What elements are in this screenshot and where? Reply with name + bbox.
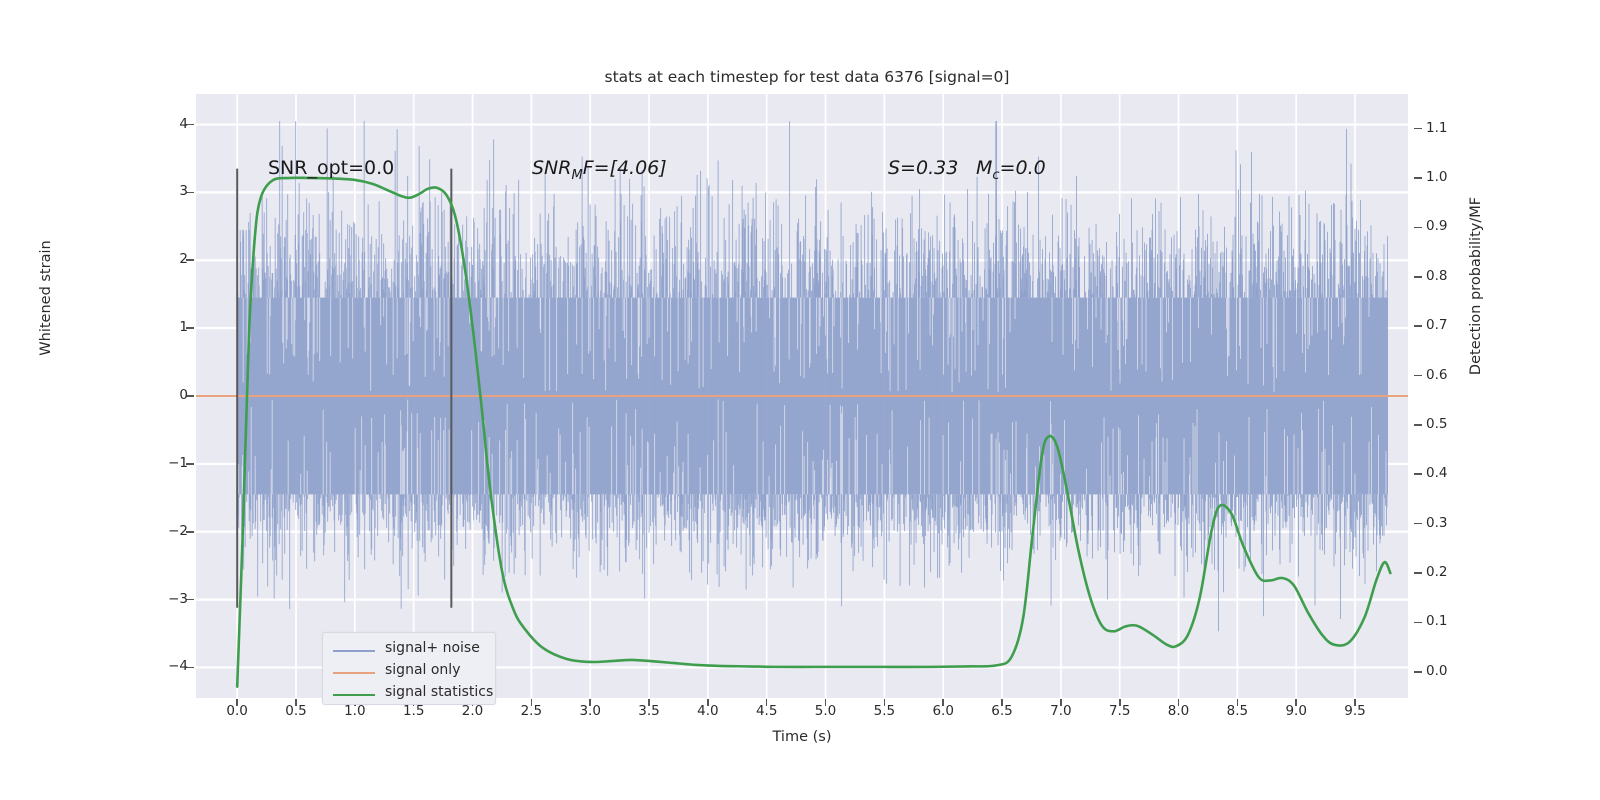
y-tick-label-right: 0.2 bbox=[1426, 564, 1486, 580]
x-tick-label: 6.0 bbox=[913, 703, 973, 719]
annotation-chirp-mass-suffix: =0.0 bbox=[1000, 157, 1046, 179]
plot-area bbox=[196, 94, 1408, 698]
x-tick-label: 1.5 bbox=[384, 703, 444, 719]
x-tick-label: 3.5 bbox=[619, 703, 679, 719]
y-tick-label-left: 4 bbox=[128, 116, 188, 132]
y-tick-label-left: −1 bbox=[128, 455, 188, 471]
legend[interactable]: signal+ noisesignal onlysignal statistic… bbox=[322, 632, 496, 705]
y-tick-mark-right bbox=[1414, 375, 1422, 377]
x-tick-label: 8.0 bbox=[1149, 703, 1209, 719]
chart-title-text: stats at each timestep for test data 637… bbox=[605, 68, 1010, 86]
y-tick-label-right: 0.3 bbox=[1426, 515, 1486, 531]
y-tick-mark-right bbox=[1414, 128, 1422, 130]
y-tick-label-left: −4 bbox=[128, 658, 188, 674]
chart-title: stats at each timestep for test data 637… bbox=[0, 68, 1600, 86]
y-tick-label-right: 0.0 bbox=[1426, 663, 1486, 679]
y-axis-label-left: Whitened strain bbox=[38, 168, 54, 428]
y-tick-mark-right bbox=[1414, 572, 1422, 574]
y-tick-mark-right bbox=[1414, 276, 1422, 278]
y-tick-label-left: −3 bbox=[128, 591, 188, 607]
x-tick-label: 9.0 bbox=[1266, 703, 1326, 719]
legend-label: signal statistics bbox=[385, 684, 493, 700]
annotation-snr-mf: SNRMF=[4.06] bbox=[532, 157, 667, 183]
x-tick-label: 4.5 bbox=[737, 703, 797, 719]
annotation-chirp-mass-prefix: M bbox=[976, 157, 992, 179]
plot-canvas bbox=[196, 94, 1408, 698]
x-tick-label: 4.0 bbox=[678, 703, 738, 719]
annotation-snr-opt: SNR_opt=0.0 bbox=[268, 157, 394, 179]
x-tick-label: 0.0 bbox=[207, 703, 267, 719]
y-tick-label-left: −2 bbox=[128, 523, 188, 539]
x-tick-label: 5.5 bbox=[854, 703, 914, 719]
x-tick-label: 2.5 bbox=[501, 703, 561, 719]
annotation-snr-mf-sub: M bbox=[571, 168, 582, 183]
y-tick-mark-right bbox=[1414, 671, 1422, 673]
legend-label: signal only bbox=[385, 662, 460, 678]
annotation-snr-mf-suffix: F=[4.06] bbox=[583, 157, 667, 179]
y-tick-label-right: 0.1 bbox=[1426, 613, 1486, 629]
y-tick-mark-right bbox=[1414, 325, 1422, 327]
y-tick-mark-right bbox=[1414, 227, 1422, 229]
x-tick-label: 2.0 bbox=[443, 703, 503, 719]
x-tick-label: 1.0 bbox=[325, 703, 385, 719]
x-tick-label: 6.5 bbox=[972, 703, 1032, 719]
x-tick-label: 3.0 bbox=[560, 703, 620, 719]
y-tick-label-right: 1.1 bbox=[1426, 120, 1486, 136]
x-axis-label: Time (s) bbox=[196, 729, 1408, 745]
legend-swatch-icon bbox=[333, 650, 375, 652]
y-tick-label-left: 3 bbox=[128, 183, 188, 199]
annotation-chirp-mass-sub: c bbox=[992, 168, 999, 183]
legend-swatch-icon bbox=[333, 694, 375, 696]
matplotlib-figure: stats at each timestep for test data 637… bbox=[0, 0, 1600, 800]
annotation-snr-mf-prefix: SNR bbox=[532, 157, 571, 179]
x-tick-label: 7.0 bbox=[1031, 703, 1091, 719]
x-tick-label: 7.5 bbox=[1090, 703, 1150, 719]
annotation-chirp-mass: Mc=0.0 bbox=[976, 157, 1046, 183]
y-tick-mark-right bbox=[1414, 177, 1422, 179]
y-axis-label-right: Detection probability/MF bbox=[1468, 156, 1484, 416]
y-tick-label-left: 0 bbox=[128, 387, 188, 403]
x-tick-label: 0.5 bbox=[266, 703, 326, 719]
y-tick-mark-right bbox=[1414, 523, 1422, 525]
annotation-s-stat: S=0.33 bbox=[888, 157, 958, 179]
y-tick-label-left: 1 bbox=[128, 319, 188, 335]
y-tick-mark-right bbox=[1414, 424, 1422, 426]
x-tick-label: 8.5 bbox=[1207, 703, 1267, 719]
y-tick-label-right: 0.4 bbox=[1426, 465, 1486, 481]
y-tick-mark-right bbox=[1414, 622, 1422, 624]
y-tick-label-left: 2 bbox=[128, 251, 188, 267]
x-tick-label: 5.0 bbox=[796, 703, 856, 719]
y-tick-label-right: 0.5 bbox=[1426, 416, 1486, 432]
legend-label: signal+ noise bbox=[385, 640, 480, 656]
y-tick-mark-right bbox=[1414, 473, 1422, 475]
legend-swatch-icon bbox=[333, 672, 375, 674]
x-tick-label: 9.5 bbox=[1325, 703, 1385, 719]
